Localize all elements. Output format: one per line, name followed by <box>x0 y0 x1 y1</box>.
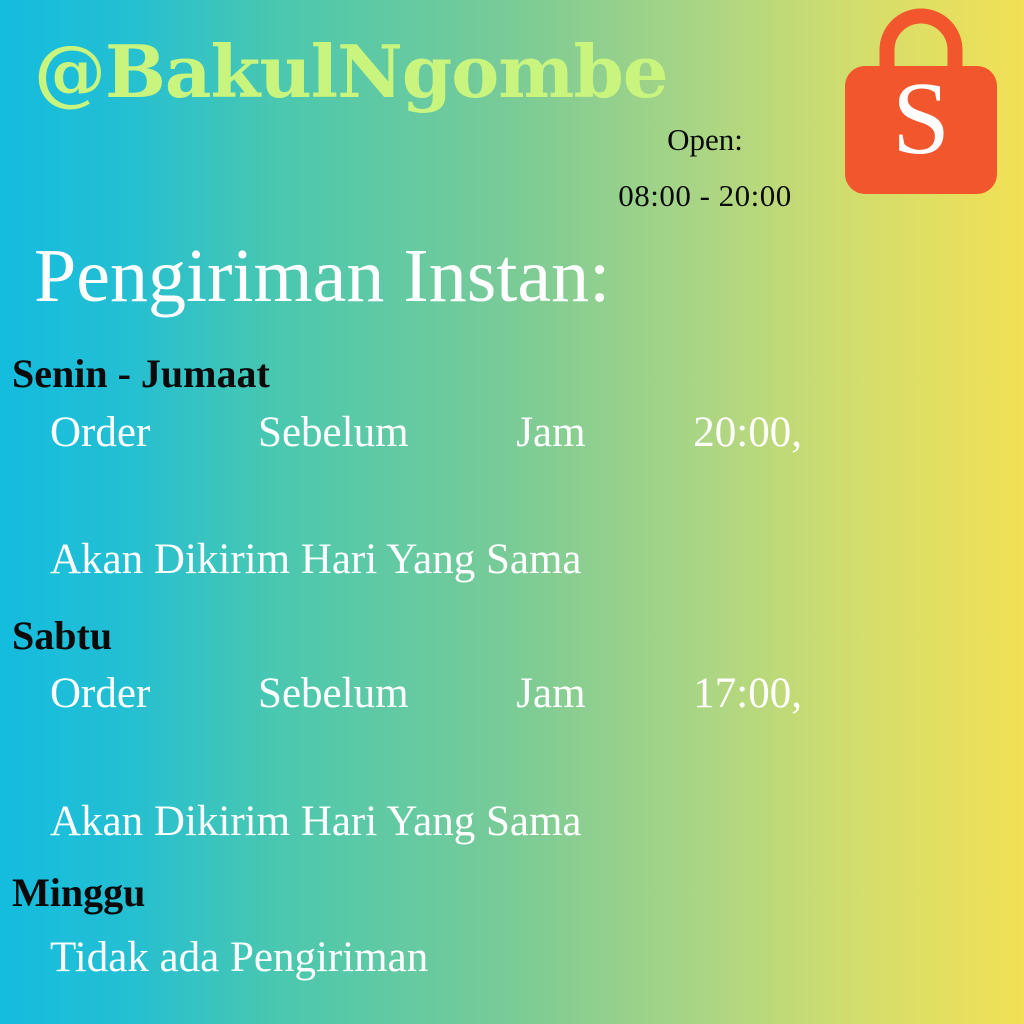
day-label-weekday: Senin - Jumaat <box>12 352 802 397</box>
promo-poster: @BakulNgombe Open: 08:00 - 20:00 S Pengi… <box>0 0 1024 1024</box>
day-label-sunday: Minggu <box>12 871 802 916</box>
day-label-saturday: Sabtu <box>12 614 802 659</box>
brand-handle: @BakulNgombe <box>34 36 668 108</box>
detail-line-2: Akan Dikirim Hari Yang Sama <box>50 790 802 854</box>
detail-line-1: Tidak ada Pengiriman <box>50 926 802 990</box>
detail-line-2: Akan Dikirim Hari Yang Sama <box>50 528 802 592</box>
schedule-group-weekday: Senin - Jumaat Order Sebelum Jam 20:00, … <box>12 352 802 592</box>
day-detail-sunday: Tidak ada Pengiriman <box>12 926 802 990</box>
day-detail-weekday: Order Sebelum Jam 20:00, Akan Dikirim Ha… <box>12 401 802 592</box>
shopee-bag-icon: S <box>843 8 999 194</box>
page-title: Pengiriman Instan: <box>34 238 610 314</box>
delivery-schedule-list: Senin - Jumaat Order Sebelum Jam 20:00, … <box>12 352 802 994</box>
detail-line-1: Order Sebelum Jam 20:00, <box>50 401 802 528</box>
schedule-group-sunday: Minggu Tidak ada Pengiriman <box>12 871 802 989</box>
open-label: Open: <box>560 124 850 155</box>
schedule-group-saturday: Sabtu Order Sebelum Jam 17:00, Akan Diki… <box>12 614 802 854</box>
open-hours-block: Open: 08:00 - 20:00 <box>560 124 850 211</box>
detail-line-1: Order Sebelum Jam 17:00, <box>50 662 802 789</box>
svg-text:S: S <box>892 61 950 176</box>
day-detail-saturday: Order Sebelum Jam 17:00, Akan Dikirim Ha… <box>12 662 802 853</box>
open-hours-value: 08:00 - 20:00 <box>560 180 850 211</box>
